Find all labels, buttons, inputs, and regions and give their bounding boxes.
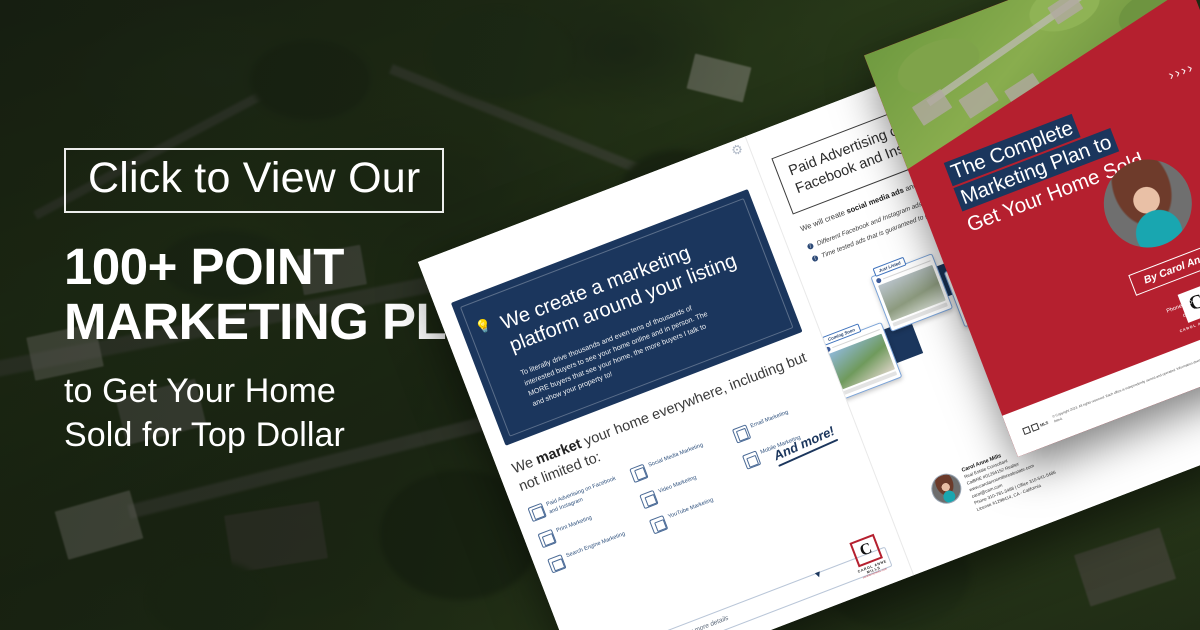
- rooftop: [1004, 73, 1044, 110]
- search-icon: [547, 554, 566, 573]
- ads-icon: [528, 503, 547, 522]
- cta-label: Click to View Our: [88, 157, 420, 200]
- rooftop: [1047, 0, 1083, 25]
- avatar: [876, 277, 882, 283]
- gear-decoration-icon: ⚙: [729, 141, 746, 160]
- channel-label: YouTube Marketing: [667, 496, 715, 521]
- realtor-icon: [1030, 422, 1039, 431]
- click-to-view-cta[interactable]: Click to View Our: [64, 148, 444, 213]
- channel-label: Video Marketing: [657, 474, 698, 496]
- channel-label: Print Marketing: [555, 514, 593, 535]
- youtube-icon: [649, 515, 668, 534]
- social-icon: [630, 464, 649, 483]
- mobile-icon: [742, 451, 761, 470]
- mls-label: MLS: [1039, 419, 1049, 427]
- equal-housing-icon: [1022, 426, 1031, 435]
- lightbulb-icon: 💡: [473, 316, 494, 337]
- agent-contact-block: Carol Anne Mills Real Estate Consultant …: [927, 436, 1060, 527]
- video-icon: [640, 490, 659, 509]
- channel-label: Email Marketing: [749, 409, 790, 431]
- mls-realtor-icons: MLS: [1022, 419, 1049, 435]
- agent-headshot: [927, 469, 966, 508]
- email-icon: [732, 424, 751, 443]
- print-icon: [538, 529, 557, 548]
- rooftop: [958, 82, 998, 119]
- agent-details: Carol Anne Mills Real Estate Consultant …: [961, 436, 1060, 514]
